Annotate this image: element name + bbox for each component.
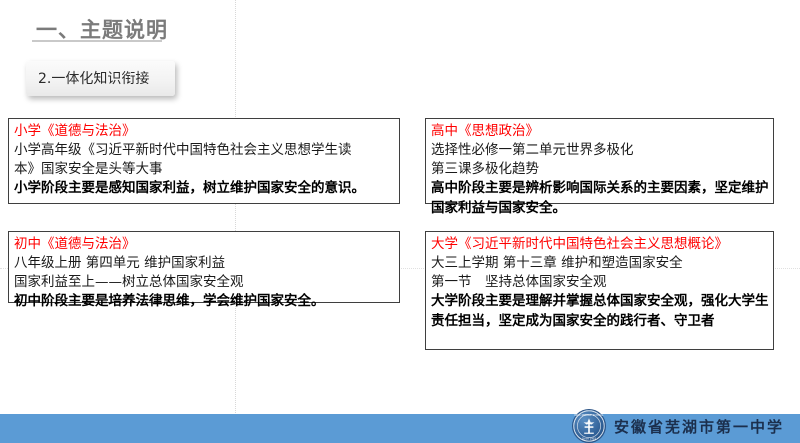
card-line: 大三上学期 第十三章 维护和塑造国家安全 [431,254,769,273]
footer-brand: NO.1 MIDDLE SCHOOL Since 1903 安徽省芜湖市第一中学 [573,409,784,443]
card-line: 本》国家安全是头等大事 [14,160,395,179]
alignment-guide-vertical [235,0,236,443]
svg-text:Since 1903: Since 1903 [582,436,596,440]
card-title: 高中《思想政治》 [431,122,769,141]
card-conclusion: 小学阶段主要是感知国家利益，树立维护国家安全的意识。 [14,179,395,198]
card-conclusion: 高中阶段主要是辨析影响国际关系的主要因素，坚定维护国家利益与国家安全。 [431,179,769,217]
card-line: 国家利益至上——树立总体国家安全观 [14,273,395,292]
school-emblem-icon: NO.1 MIDDLE SCHOOL Since 1903 [573,410,605,442]
card-conclusion: 初中阶段主要是培养法律思维，学会维护国家安全。 [14,292,395,311]
title-underline [32,40,162,42]
card-title: 大学《习近平新时代中国特色社会主义思想概论》 [431,235,769,254]
card-title: 小学《道德与法治》 [14,122,395,141]
card-title: 初中《道德与法治》 [14,235,395,254]
card-junior-high-school[interactable]: 初中《道德与法治》 八年级上册 第四单元 维护国家利益 国家利益至上——树立总体… [8,231,400,303]
card-line: 小学高年级《习近平新时代中国特色社会主义思想学生读 [14,141,395,160]
svg-text:NO.1 MIDDLE SCHOOL: NO.1 MIDDLE SCHOOL [574,413,604,417]
card-line: 第三课多极化趋势 [431,160,769,179]
card-line: 八年级上册 第四单元 维护国家利益 [14,254,395,273]
card-line: 选择性必修一第二单元世界多极化 [431,141,769,160]
slide-canvas: 一、主题说明 2.一体化知识衔接 小学《道德与法治》 小学高年级《习近平新时代中… [0,0,800,443]
card-line: 第一节 坚持总体国家安全观 [431,273,769,292]
card-primary-school[interactable]: 小学《道德与法治》 小学高年级《习近平新时代中国特色社会主义思想学生读 本》国家… [8,118,400,204]
section-label-tab[interactable]: 2.一体化知识衔接 [26,61,175,96]
card-senior-high-school[interactable]: 高中《思想政治》 选择性必修一第二单元世界多极化 第三课多极化趋势 高中阶段主要… [425,118,774,204]
card-conclusion: 大学阶段主要是理解并掌握总体国家安全观，强化大学生责任担当，坚定成为国家安全的践… [431,292,769,330]
school-name-label: 安徽省芜湖市第一中学 [614,416,784,437]
card-university[interactable]: 大学《习近平新时代中国特色社会主义思想概论》 大三上学期 第十三章 维护和塑造国… [425,231,774,350]
